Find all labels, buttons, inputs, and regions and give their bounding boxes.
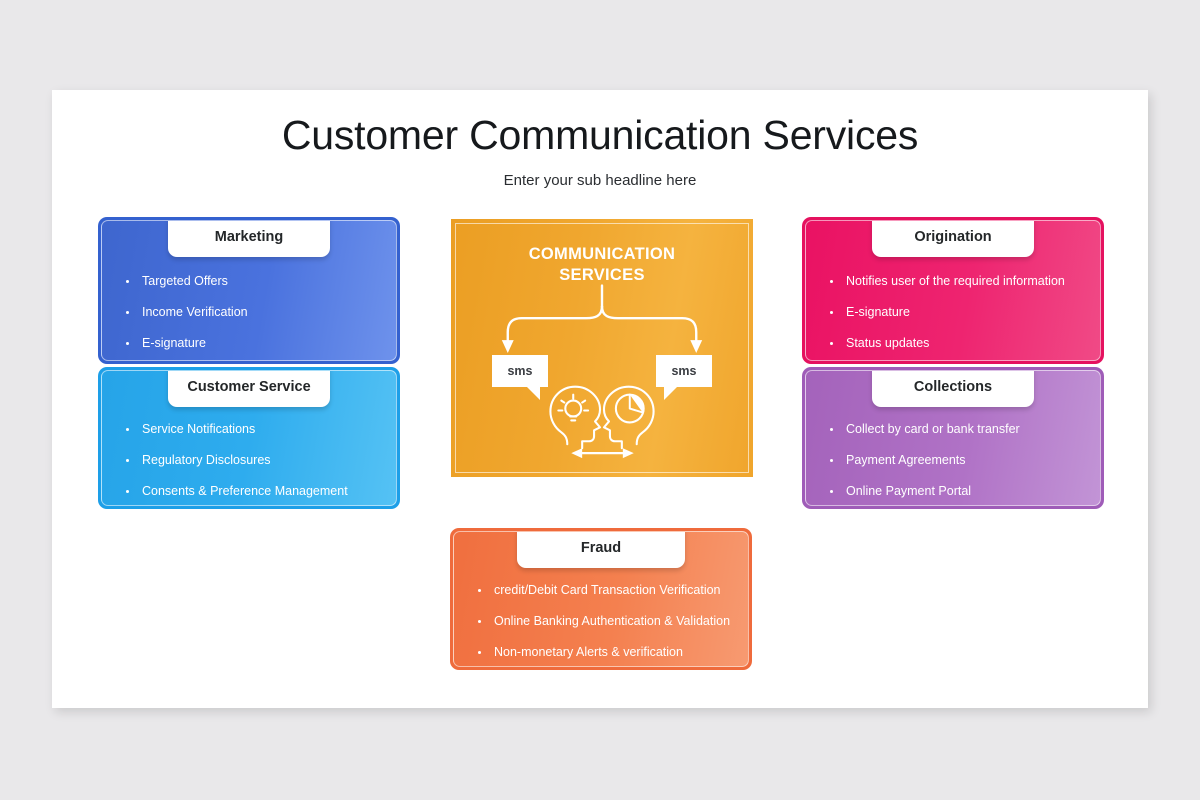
center-hub-body: COMMUNICATION SERVICES [455,223,749,473]
head-piechart-icon [604,387,654,449]
list-item: Income Verification [102,302,396,323]
card-origination[interactable]: Origination Notifies user of the require… [802,217,1104,364]
sms-label: sms [671,364,696,378]
page-subtitle: Enter your sub headline here [52,172,1148,189]
card-title: Customer Service [187,379,310,395]
card-body: Marketing Targeted Offers Income Verific… [101,220,397,361]
card-title-tab: Marketing [168,220,330,257]
list-item: Online Banking Authentication & Validati… [454,611,748,632]
card-title-tab: Customer Service [168,370,330,407]
card-title: Fraud [581,540,621,556]
page-title: Customer Communication Services [52,112,1148,159]
card-bullet-list: Collect by card or bank transfer Payment… [806,419,1100,506]
card-body: Origination Notifies user of the require… [805,220,1101,361]
card-marketing[interactable]: Marketing Targeted Offers Income Verific… [98,217,400,364]
list-item: Targeted Offers [102,271,396,292]
sms-bubble-right: sms [656,355,712,387]
list-item: Service Notifications [102,419,396,440]
list-item: Consents & Preference Management [102,481,396,502]
head-lightbulb-icon [550,387,600,449]
card-fraud[interactable]: Fraud credit/Debit Card Transaction Veri… [450,528,752,670]
list-item: Collect by card or bank transfer [806,419,1100,440]
sms-bubble-left: sms [492,355,548,387]
card-bullet-list: Notifies user of the required informatio… [806,271,1100,361]
list-item: Non-monetary Alerts & verification [454,642,748,663]
card-title: Collections [914,379,992,395]
card-body: Collections Collect by card or bank tran… [805,370,1101,506]
card-title-tab: Fraud [517,531,685,568]
arrowhead-left-icon [502,340,514,353]
card-bullet-list: Service Notifications Regulatory Disclos… [102,419,396,506]
card-bullet-list: credit/Debit Card Transaction Verificati… [454,580,748,667]
card-customer-service[interactable]: Customer Service Service Notifications R… [98,367,400,509]
card-collections[interactable]: Collections Collect by card or bank tran… [802,367,1104,509]
list-item: Notifies user of the required informatio… [806,271,1100,292]
card-body: Customer Service Service Notifications R… [101,370,397,506]
card-title: Origination [914,229,991,245]
card-title-tab: Origination [872,220,1034,257]
slide-canvas: Customer Communication Services Enter yo… [52,90,1148,708]
center-hub-diagram [456,224,748,472]
list-item: Status updates [806,333,1100,354]
center-hub-panel: COMMUNICATION SERVICES [451,219,753,477]
bidirectional-arrow-icon [571,448,633,458]
branch-arrows-icon [508,286,696,342]
list-item: Payment Agreements [806,450,1100,471]
list-item: Online Payment Portal [806,481,1100,502]
arrowhead-right-icon [690,340,702,353]
sms-label: sms [507,364,532,378]
card-title-tab: Collections [872,370,1034,407]
card-title: Marketing [215,229,284,245]
card-bullet-list: Targeted Offers Income Verification E-si… [102,271,396,361]
list-item: credit/Debit Card Transaction Verificati… [454,580,748,601]
card-body: Fraud credit/Debit Card Transaction Veri… [453,531,749,667]
list-item: Regulatory Disclosures [102,450,396,471]
list-item: E-signature [102,333,396,354]
list-item: E-signature [806,302,1100,323]
